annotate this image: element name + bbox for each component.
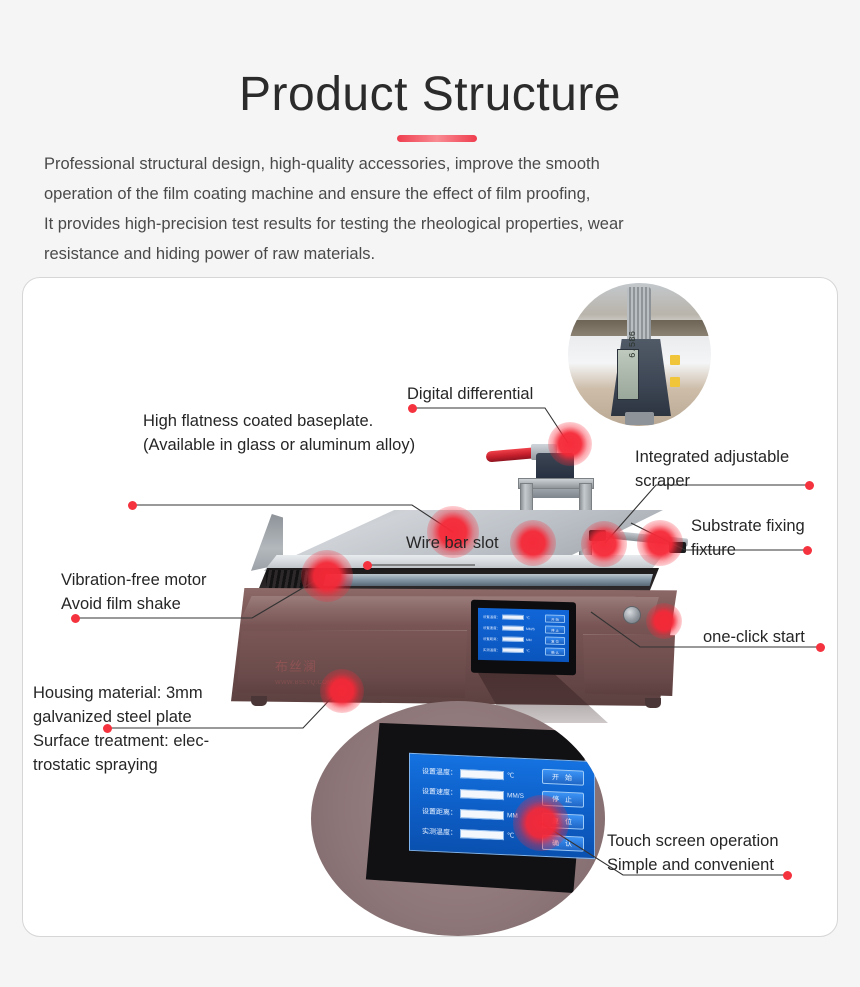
callout-vibration-motor: Vibration-free motor Avoid film shake — [61, 568, 207, 616]
page-description: Professional structural design, high-qua… — [44, 149, 834, 269]
hmi-input-3[interactable] — [502, 647, 524, 653]
panel-label-3: 实测温度： — [422, 826, 457, 838]
callout-dot-touch-screen — [783, 871, 792, 880]
emergency-knob[interactable] — [623, 606, 641, 624]
hmi-unit-2: MM — [526, 638, 532, 642]
hmi-input-2[interactable] — [502, 636, 524, 642]
callout-wire-bar-slot: Wire bar slot — [406, 531, 499, 555]
callout-housing-material: Housing material: 3mm galvanized steel p… — [33, 681, 209, 777]
marker-glow-housing — [320, 669, 364, 713]
housing-panel-right — [583, 634, 675, 696]
hmi-label-0: 设置温度： — [483, 614, 500, 619]
panel-unit-0: ℃ — [507, 771, 514, 779]
panel-input-2[interactable] — [460, 809, 504, 820]
marker-glow-panel-button — [513, 795, 569, 851]
callout-digital-differential: Digital differential — [407, 382, 533, 406]
hmi-unit-1: MM/S — [526, 627, 535, 631]
product-structure-page: Product Structure Professional structura… — [0, 0, 860, 987]
title-accent-bar — [397, 135, 477, 142]
housing-highlight — [239, 596, 659, 626]
panel-label-0: 设置温度： — [422, 766, 457, 778]
touch-panel-screen[interactable]: 设置温度： ℃ 设置速度： MM/S 设置距离： MM — [409, 753, 595, 859]
hmi-start-button-small[interactable]: 开 始 — [545, 615, 565, 623]
callout-dot-high-flatness — [128, 501, 137, 510]
panel-input-1[interactable] — [460, 789, 504, 800]
machine-foot-left — [251, 696, 267, 706]
hmi-input-0[interactable] — [502, 614, 524, 620]
micrometer-button-upper[interactable] — [670, 355, 680, 365]
hmi-confirm-button-small[interactable]: 确 认 — [545, 648, 565, 656]
micrometer-base — [625, 412, 654, 425]
marker-glow-scraper-mid — [510, 520, 556, 566]
panel-input-0[interactable] — [460, 769, 504, 780]
hmi-input-1[interactable] — [502, 625, 524, 631]
hmi-label-3: 实测温度： — [483, 647, 500, 652]
page-title: Product Structure — [0, 66, 860, 124]
callout-touch-screen: Touch screen operation Simple and conven… — [607, 829, 779, 877]
hmi-unit-0: ℃ — [526, 616, 530, 620]
callout-high-flatness-baseplate: High flatness coated baseplate. (Availab… — [143, 409, 415, 457]
callout-dot-integrated-scraper — [805, 481, 814, 490]
callout-dot-housing-material — [103, 724, 112, 733]
digital-micrometer-inset-photo: 6.586 — [568, 283, 711, 426]
callout-integrated-scraper: Integrated adjustable scraper — [635, 445, 789, 493]
panel-start-button[interactable]: 开 始 — [542, 769, 584, 786]
marker-glow-one-click — [646, 603, 682, 639]
callout-dot-wire-bar-slot — [363, 561, 372, 570]
callout-one-click-start: one-click start — [703, 625, 805, 649]
marker-glow-scraper-right — [581, 521, 627, 567]
panel-input-3[interactable] — [460, 829, 504, 840]
panel-unit-1: MM/S — [507, 792, 524, 800]
hmi-unit-3: ℃ — [526, 649, 530, 653]
callout-substrate-fixture: Substrate fixing fixture — [691, 514, 805, 562]
panel-label-1: 设置速度： — [422, 786, 457, 798]
hmi-reset-button-small[interactable]: 复 位 — [545, 637, 565, 645]
micrometer-reading: 6.586 — [628, 347, 638, 358]
panel-unit-3: ℃ — [507, 831, 514, 839]
micrometer-lcd-display: 6.586 — [617, 349, 640, 400]
panel-label-2: 设置距离： — [422, 806, 457, 818]
hmi-label-1: 设置速度： — [483, 625, 500, 630]
marker-glow-motor — [301, 550, 353, 602]
callout-dot-one-click-start — [816, 643, 825, 652]
marker-glow-scraper-head — [548, 422, 592, 466]
micrometer-button-lower[interactable] — [670, 377, 680, 387]
hmi-label-2: 设置距离： — [483, 636, 500, 641]
watermark-text: 布丝澜 — [275, 659, 317, 674]
linear-rail — [323, 574, 653, 586]
callout-dot-substrate-fixture — [803, 546, 812, 555]
machine-foot-right — [645, 698, 661, 708]
diagram-stage: 布丝澜 WWW.BSLYQ.COM 设置温度： ℃ 设置速度： MM/S — [23, 278, 837, 936]
hmi-stop-button-small[interactable]: 停 止 — [545, 626, 565, 634]
callout-dot-vibration-motor — [71, 614, 80, 623]
hmi-screen-small[interactable]: 设置温度： ℃ 设置速度： MM/S 设置距离： MM — [478, 608, 569, 662]
marker-glow-fixture — [637, 520, 683, 566]
diagram-card: 布丝澜 WWW.BSLYQ.COM 设置温度： ℃ 设置速度： MM/S — [22, 277, 838, 937]
